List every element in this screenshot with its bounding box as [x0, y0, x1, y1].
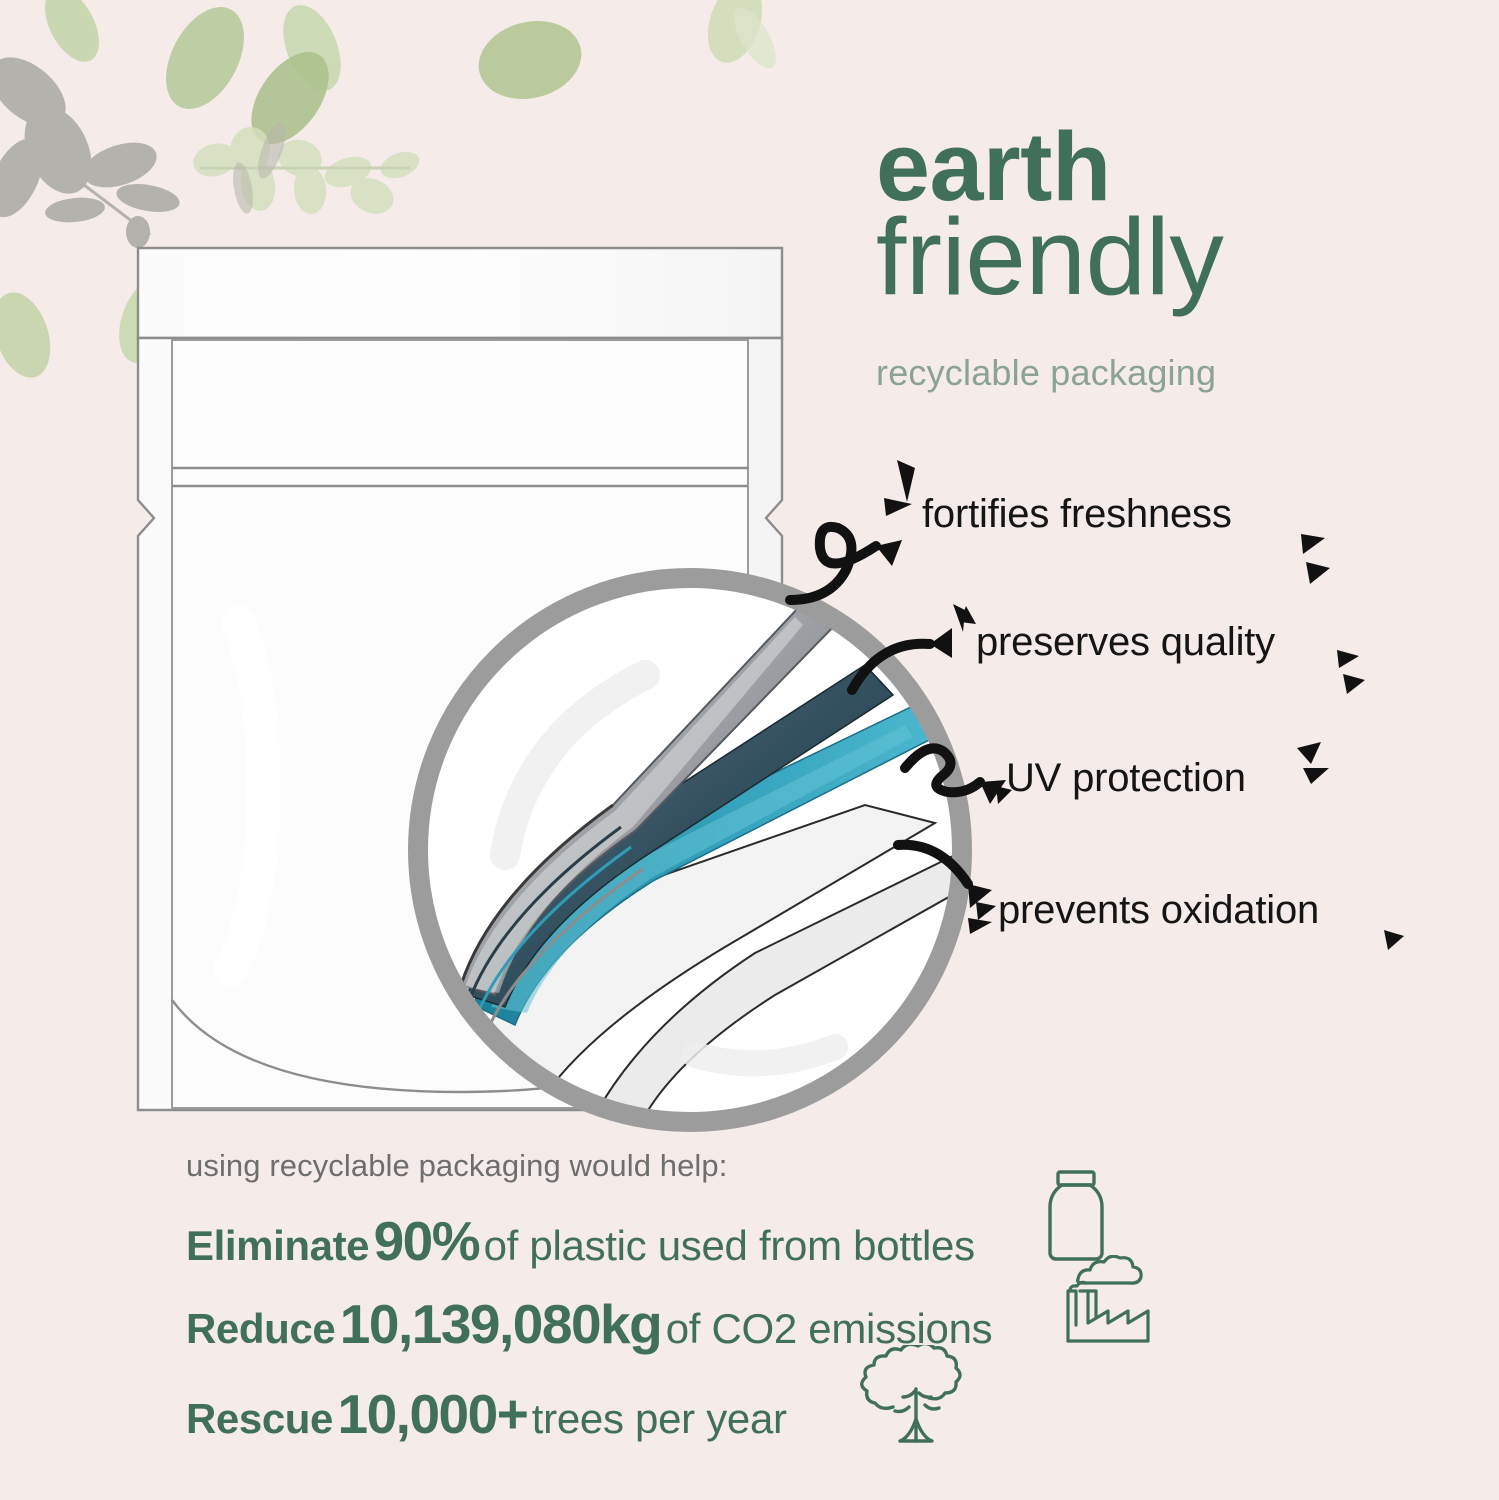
- bottle-icon: [1040, 1168, 1112, 1266]
- stat-label: Rescue: [186, 1395, 333, 1442]
- stat-row-rescue: Rescue 10,000+ trees per year: [186, 1382, 787, 1446]
- magnified-film-layers-illustration: [395, 555, 985, 1145]
- tree-icon: [855, 1345, 977, 1457]
- poster-canvas: earth friendly recyclable packaging fort…: [0, 0, 1499, 1500]
- stat-label: Reduce: [186, 1305, 335, 1352]
- feature-label-fortifies-freshness: fortifies freshness: [922, 492, 1232, 537]
- feature-label-preserves-quality: preserves quality: [976, 620, 1275, 665]
- stat-label: Eliminate: [186, 1222, 369, 1269]
- headline-line-2: friendly: [876, 207, 1476, 307]
- factory-icon: [1062, 1255, 1154, 1345]
- stat-value: 10,139,080kg: [340, 1293, 661, 1355]
- feature-label-prevents-oxidation: prevents oxidation: [998, 888, 1319, 933]
- page-title: earth friendly: [876, 122, 1476, 308]
- stats-intro: using recyclable packaging would help:: [186, 1148, 727, 1184]
- stat-row-eliminate: Eliminate 90% of plastic used from bottl…: [186, 1209, 975, 1273]
- feature-label-uv-protection: UV protection: [1006, 756, 1246, 801]
- stat-value: 10,000+: [337, 1383, 527, 1445]
- headline-subtitle: recyclable packaging: [876, 352, 1216, 394]
- stat-tail: trees per year: [532, 1395, 787, 1442]
- stat-tail: of plastic used from bottles: [484, 1222, 975, 1269]
- stat-value: 90%: [374, 1210, 480, 1272]
